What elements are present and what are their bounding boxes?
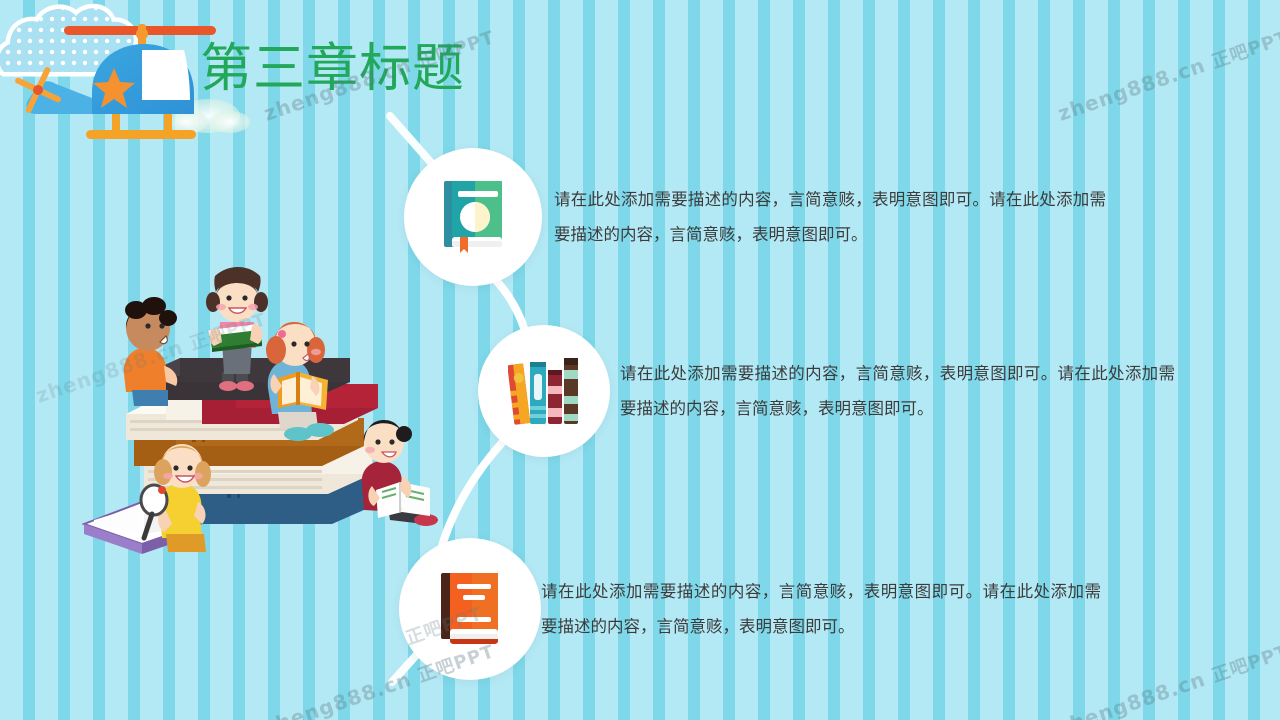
watermark-brand: 正吧PPT [1209,27,1280,73]
bookshelf-row-icon [508,356,580,426]
icon-bubble-2[interactable] [478,325,610,457]
content-text-3: 请在此处添加需要描述的内容，言简意赅，表明意图即可。请在此处添加需要描述的内容，… [541,574,1101,644]
watermark-domain: zheng888.cn [1055,53,1209,126]
watermark: zheng888.cn 正吧PPT [1054,23,1280,126]
icon-bubble-1[interactable] [404,148,542,286]
content-row-2: 请在此处添加需要描述的内容，言简意赅，表明意图即可。请在此处添加需要描述的内容，… [478,325,1175,457]
content-row-1: 请在此处添加需要描述的内容，言简意赅，表明意图即可。请在此处添加需要描述的内容，… [404,148,1106,286]
watermark-domain: zheng888.cn [261,667,415,720]
watermark-brand: 正吧PPT [1209,641,1280,687]
content-text-2: 请在此处添加需要描述的内容，言简意赅，表明意图即可。请在此处添加需要描述的内容，… [620,356,1175,426]
closed-book-orange-icon [438,571,502,647]
slide-title: 第三章标题 [200,38,465,100]
watermark: zheng888.cn 正吧PPT [32,305,269,408]
icon-bubble-3[interactable] [399,538,541,680]
children-on-books-illustration [82,262,452,562]
watermark-domain: zheng888.cn [33,335,187,408]
watermark-brand: 正吧PPT [187,309,269,355]
content-text-1: 请在此处添加需要描述的内容，言简意赅，表明意图即可。请在此处添加需要描述的内容，… [554,182,1106,252]
presentation-slide: 第三章标题 [0,0,1280,720]
content-row-3: 请在此处添加需要描述的内容，言简意赅，表明意图即可。请在此处添加需要描述的内容，… [399,538,1101,680]
closed-book-teal-icon [442,179,504,255]
